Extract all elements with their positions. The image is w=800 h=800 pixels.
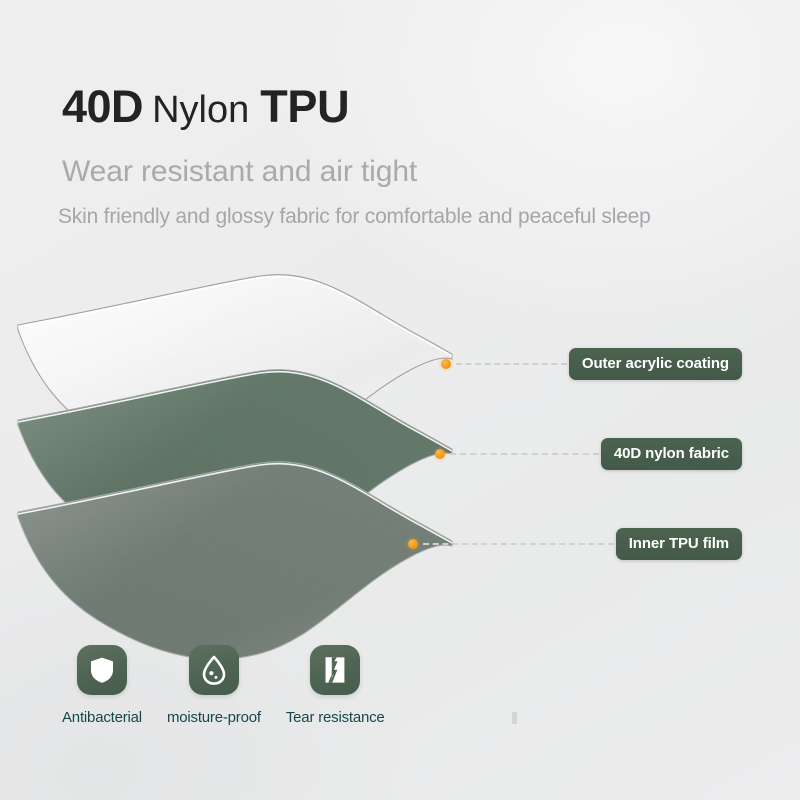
lightning-tear-icon: [310, 645, 360, 695]
layer-badge-outer[interactable]: Outer acrylic coating: [569, 348, 742, 380]
callout-dash-line: [450, 453, 599, 455]
feature-tear-resistance[interactable]: Tear resistance: [286, 645, 385, 726]
callout-dot-icon: [405, 536, 421, 552]
feature-label-tear-resistance: Tear resistance: [286, 709, 385, 726]
layer-badge-tpu[interactable]: Inner TPU film: [616, 528, 742, 560]
callout-inner-tpu-film[interactable]: Inner TPU film: [405, 528, 742, 560]
water-drop-icon: [189, 645, 239, 695]
callout-dash-line: [423, 543, 614, 545]
callout-dash-line: [456, 363, 567, 365]
callout-40d-nylon-fabric[interactable]: 40D nylon fabric: [432, 438, 742, 470]
image-artifact: [512, 712, 517, 724]
feature-list: Antibacterial moisture-proof: [62, 645, 385, 726]
layer-badge-nylon[interactable]: 40D nylon fabric: [601, 438, 742, 470]
product-infographic: 40D Nylon TPU Wear resistant and air tig…: [0, 0, 800, 800]
callout-dot-icon: [438, 356, 454, 372]
feature-label-moisture-proof: moisture-proof: [167, 709, 261, 726]
feature-antibacterial[interactable]: Antibacterial: [62, 645, 142, 726]
shield-icon: [77, 645, 127, 695]
callout-outer-acrylic-coating[interactable]: Outer acrylic coating: [438, 348, 742, 380]
callout-dot-icon: [432, 446, 448, 462]
feature-label-antibacterial: Antibacterial: [62, 709, 142, 726]
feature-moisture-proof[interactable]: moisture-proof: [167, 645, 261, 726]
